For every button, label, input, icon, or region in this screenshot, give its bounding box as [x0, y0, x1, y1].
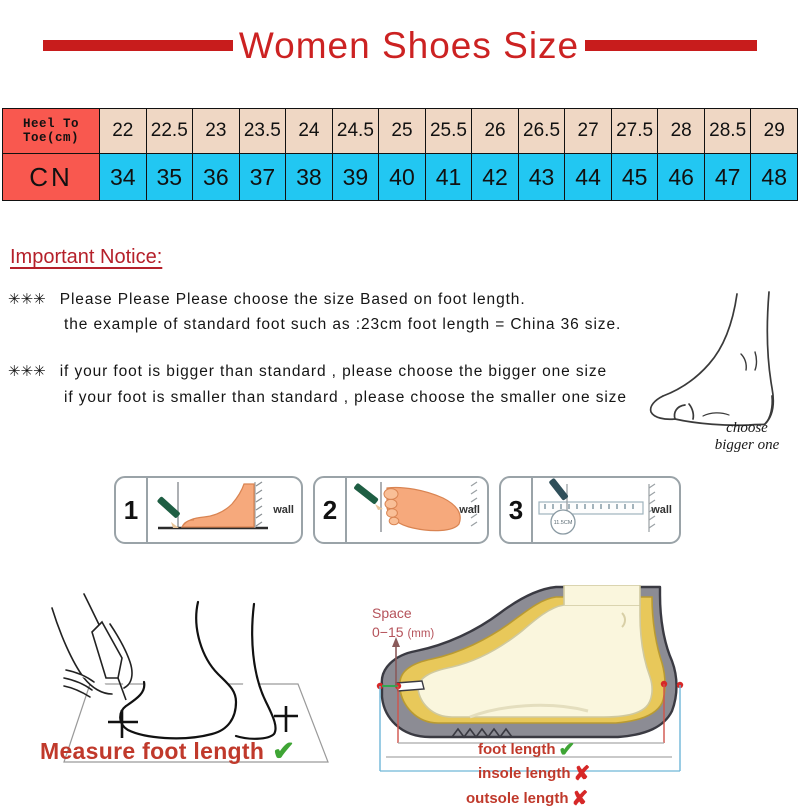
cell-cm: 27.5 [611, 109, 658, 154]
measure-foot-length-caption: Measure foot length ✔ [40, 738, 295, 765]
cell-cn: 41 [425, 154, 472, 201]
step-3-illustration: 11.5CM wall [533, 478, 677, 542]
cell-cn: 48 [751, 154, 798, 201]
cell-cn: 42 [472, 154, 519, 201]
measurement-steps: 1 [114, 476, 681, 544]
length-label-text: outsole length [466, 790, 569, 808]
wall-label: wall [651, 504, 672, 516]
cell-cm: 27 [565, 109, 612, 154]
table-row-cn: CN 34 35 36 37 38 39 40 41 42 43 44 45 4… [3, 154, 798, 201]
cell-cm: 23 [193, 109, 240, 154]
wall-label: wall [273, 504, 294, 516]
length-label-text: insole length [478, 765, 571, 783]
notice-bullet-stars: ✳✳✳ [8, 363, 46, 380]
step-panel-3: 3 11 [499, 476, 681, 544]
notice-text: the example of standard foot such as :23… [64, 316, 621, 333]
step-2-illustration: wall [347, 478, 485, 542]
length-label-row: insole length ✘ [478, 762, 778, 786]
cross-icon: ✘ [574, 762, 591, 786]
page-title: Women Shoes Size [233, 27, 585, 64]
cross-icon: ✘ [572, 787, 589, 811]
notice-text: Please Please Please choose the size Bas… [60, 291, 526, 308]
choose-bigger-one-caption: choose bigger one [692, 420, 800, 455]
space-label-unit: (mm) [407, 628, 434, 640]
title-rule-left [43, 40, 233, 51]
cell-cm: 25 [379, 109, 426, 154]
step-panel-2: 2 [313, 476, 489, 544]
check-icon: ✔ [558, 738, 575, 762]
length-label-row: outsole length ✘ [466, 787, 778, 811]
step-number: 3 [501, 478, 533, 542]
cell-cm: 29 [751, 109, 798, 154]
table-row-heel-to-toe: Heel To Toe(cm) 22 22.5 23 23.5 24 24.5 … [3, 109, 798, 154]
measure-caption-text: Measure foot length [40, 738, 264, 765]
space-label-line2: 0−15 [372, 624, 404, 640]
cell-cn: 36 [193, 154, 240, 201]
cell-cm: 23.5 [239, 109, 286, 154]
length-label-row: foot length ✔ [478, 738, 778, 762]
row-header-cn: CN [3, 154, 100, 201]
cell-cn: 38 [286, 154, 333, 201]
cell-cn: 46 [658, 154, 705, 201]
cell-cn: 34 [100, 154, 147, 201]
svg-text:11.5CM: 11.5CM [554, 520, 573, 526]
notice-text: if your foot is bigger than standard , p… [60, 363, 607, 380]
cell-cn: 43 [518, 154, 565, 201]
cell-cn: 44 [565, 154, 612, 201]
cell-cn: 47 [704, 154, 751, 201]
wall-label: wall [459, 504, 480, 516]
step-1-illustration: wall [148, 478, 299, 542]
row-header-heel-to-toe: Heel To Toe(cm) [3, 109, 100, 154]
space-label-line1: Space [372, 604, 434, 623]
cell-cm: 26.5 [518, 109, 565, 154]
notice-text: if your foot is smaller than standard , … [64, 389, 627, 406]
cell-cm: 24 [286, 109, 333, 154]
shoe-length-labels: foot length ✔ insole length ✘ outsole le… [478, 738, 778, 811]
step-number: 2 [315, 478, 347, 542]
cell-cn: 35 [146, 154, 193, 201]
cell-cm: 28 [658, 109, 705, 154]
step-number: 1 [116, 478, 148, 542]
caption-line: choose [726, 420, 768, 436]
cell-cm: 22.5 [146, 109, 193, 154]
title-rule-right [585, 40, 757, 51]
caption-line: bigger one [715, 437, 780, 453]
cell-cn: 39 [332, 154, 379, 201]
cell-cm: 25.5 [425, 109, 472, 154]
check-icon: ✔ [272, 738, 295, 765]
cell-cn: 40 [379, 154, 426, 201]
notice-title: Important Notice: [10, 246, 798, 269]
length-label-text: foot length [478, 741, 555, 759]
notice-bullet-stars: ✳✳✳ [8, 291, 46, 308]
step-panel-1: 1 [114, 476, 303, 544]
cell-cm: 22 [100, 109, 147, 154]
cell-cn: 45 [611, 154, 658, 201]
space-label: Space 0−15 (mm) [372, 604, 434, 642]
cell-cm: 28.5 [704, 109, 751, 154]
size-conversion-table: Heel To Toe(cm) 22 22.5 23 23.5 24 24.5 … [2, 108, 798, 201]
cell-cm: 24.5 [332, 109, 379, 154]
cell-cm: 26 [472, 109, 519, 154]
cell-cn: 37 [239, 154, 286, 201]
page-title-bar: Women Shoes Size [0, 22, 800, 68]
